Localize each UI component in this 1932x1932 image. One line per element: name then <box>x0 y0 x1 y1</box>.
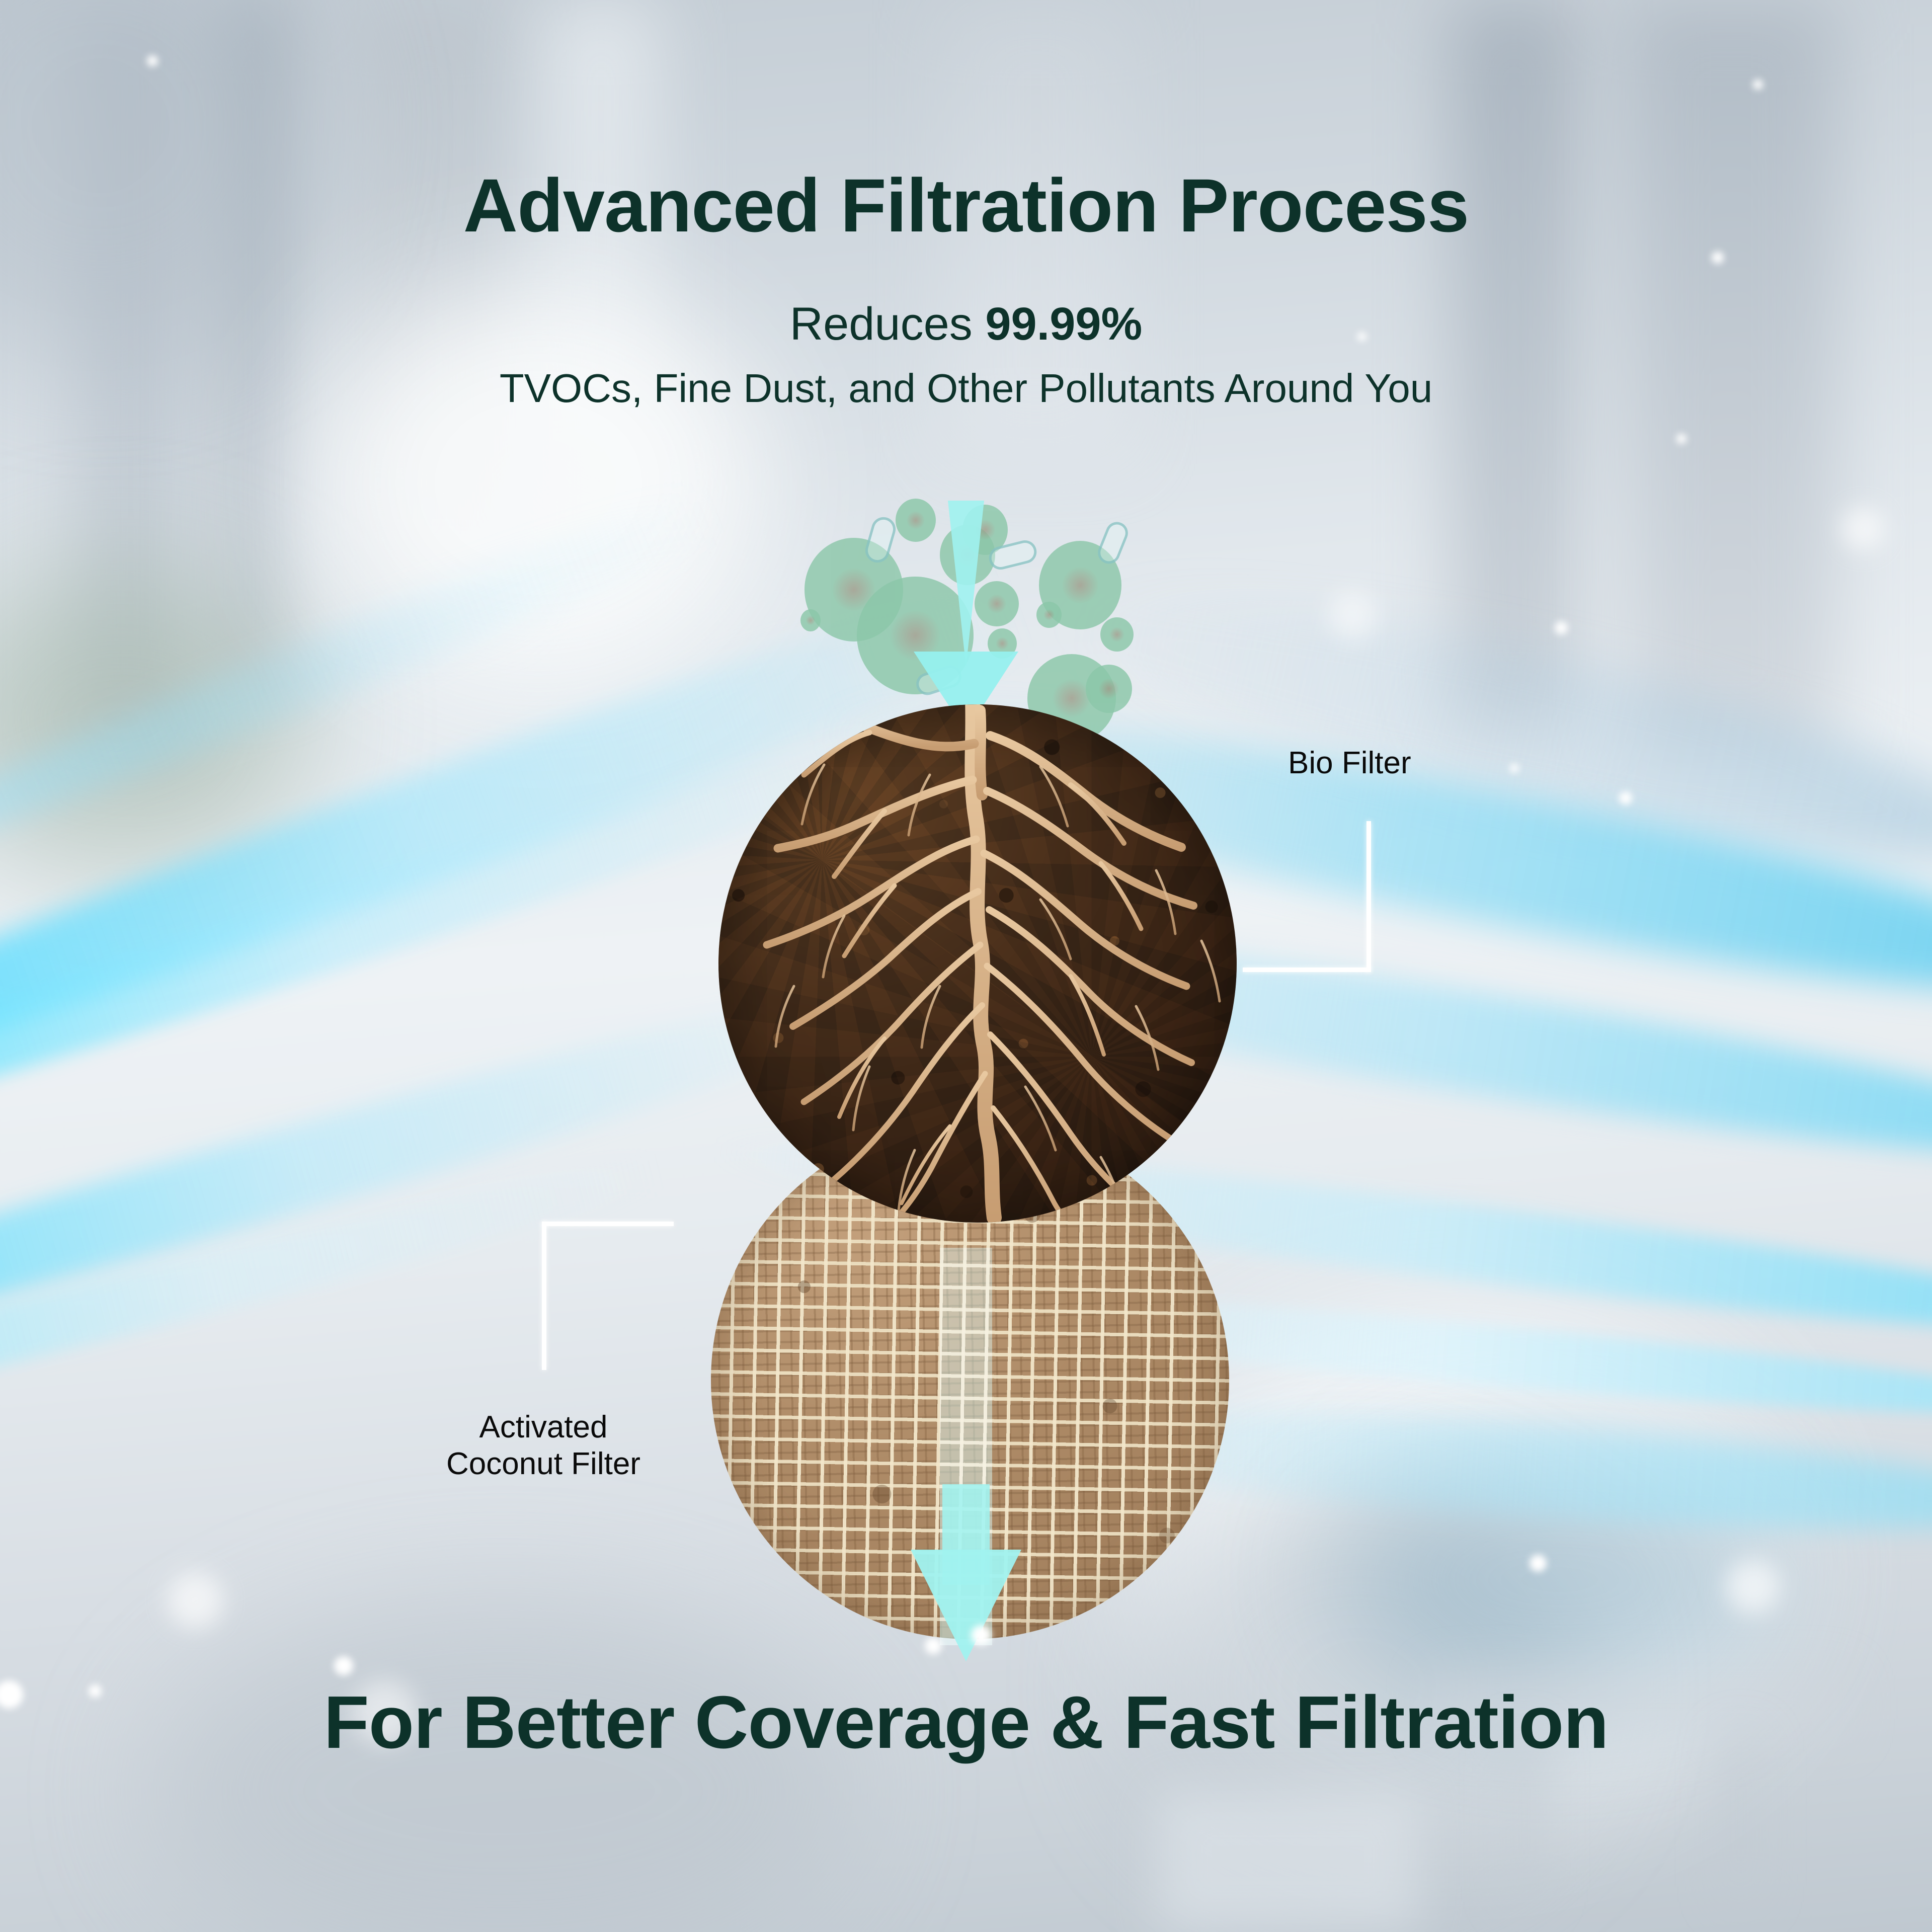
subtitle-pollutants: TVOCs, Fine Dust, and Other Pollutants A… <box>0 366 1932 411</box>
callout-coconut-line-2: Coconut Filter <box>382 1445 704 1482</box>
callout-activated-coconut-filter: Activated Coconut Filter <box>382 1409 704 1482</box>
callout-bio-filter: Bio Filter <box>1288 745 1411 781</box>
coconut-filter-leader-horizontal <box>542 1222 674 1226</box>
clean-air-outlet-arrow <box>911 1484 1021 1685</box>
subtitle-percentage: 99.99% <box>985 298 1142 350</box>
subtitle-reduction: Reduces 99.99% <box>0 299 1932 350</box>
infographic-canvas: Advanced Filtration Process Reduces 99.9… <box>0 0 1932 1932</box>
callout-coconut-line-1: Activated <box>382 1409 704 1445</box>
bio-filter-leader-horizontal <box>1243 968 1371 972</box>
bio-filter-disc <box>718 704 1237 1223</box>
root-network <box>718 704 1237 1223</box>
footer-headline: For Better Coverage & Fast Filtration <box>0 1685 1932 1760</box>
subtitle-prefix: Reduces <box>790 298 986 350</box>
bokeh-dot <box>971 1625 991 1645</box>
polluted-air-inlet-arrow <box>914 501 1018 732</box>
page-title: Advanced Filtration Process <box>0 166 1932 246</box>
coconut-filter-leader-vertical <box>542 1222 546 1370</box>
bio-filter-leader-vertical <box>1366 821 1371 972</box>
